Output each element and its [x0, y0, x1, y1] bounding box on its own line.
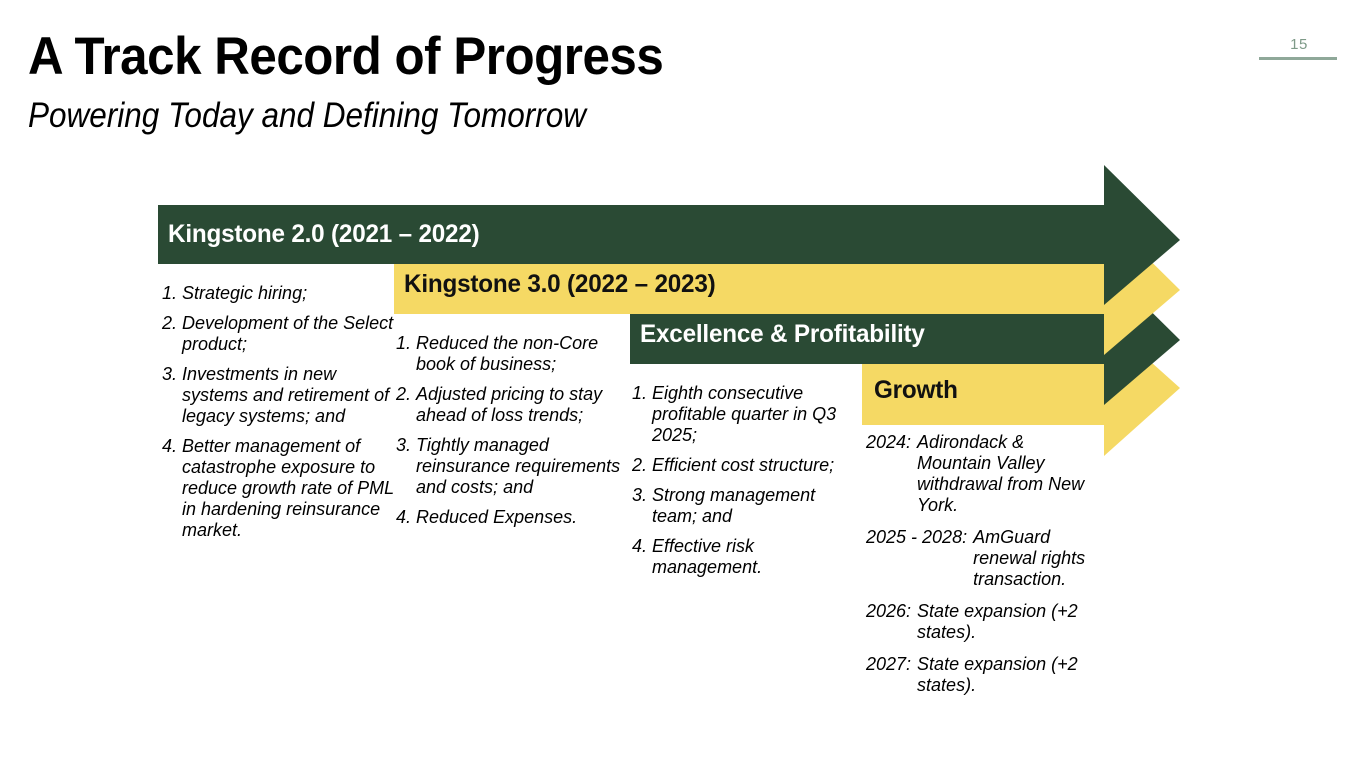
arrow-band-title: Kingstone 2.0 (2021 – 2022): [168, 205, 480, 264]
list-item-marker: 2025 - 2028:: [866, 527, 973, 590]
list-item-text: Adjusted pricing to stay ahead of loss t…: [416, 384, 628, 426]
list-item-text: Investments in new systems and retiremen…: [182, 364, 394, 427]
list-item: 4.Better management of catastrophe expos…: [162, 436, 394, 541]
list-item: 2026:State expansion (+2 states).: [866, 601, 1094, 643]
list-growth: 2024:Adirondack & Mountain Valley withdr…: [866, 432, 1094, 708]
list-item-text: State expansion (+2 states).: [917, 654, 1094, 696]
list-item: 3.Strong management team; and: [632, 485, 864, 527]
list-item-text: Efficient cost structure;: [652, 455, 864, 476]
list-item: 2027:State expansion (+2 states).: [866, 654, 1094, 696]
slide-canvas: A Track Record of Progress Powering Toda…: [0, 0, 1365, 768]
page-subtitle: Powering Today and Defining Tomorrow: [28, 96, 586, 136]
list-kingstone-2-0: 1.Strategic hiring;2.Development of the …: [162, 283, 394, 551]
list-item-marker: 2.: [162, 313, 182, 355]
list-item-text: Strong management team; and: [652, 485, 864, 527]
list-item: 2025 - 2028:AmGuard renewal rights trans…: [866, 527, 1094, 590]
list-item-marker: 2.: [396, 384, 416, 426]
list-item-marker: 4.: [632, 536, 652, 578]
list-item: 3.Investments in new systems and retirem…: [162, 364, 394, 427]
list-item-text: Reduced Expenses.: [416, 507, 628, 528]
page-number-rule: [1259, 57, 1337, 60]
list-item-text: State expansion (+2 states).: [917, 601, 1094, 643]
page-number-group: 15: [1259, 36, 1339, 60]
list-item-marker: 3.: [632, 485, 652, 527]
list-item-marker: 3.: [162, 364, 182, 427]
list-item-text: Development of the Select product;: [182, 313, 394, 355]
list-item: 3.Tightly managed reinsurance requiremen…: [396, 435, 628, 498]
list-item: 2.Efficient cost structure;: [632, 455, 864, 476]
page-number: 15: [1259, 36, 1339, 53]
list-item-marker: 4.: [162, 436, 182, 541]
list-item-text: Effective risk management.: [652, 536, 864, 578]
list-item-marker: 2.: [632, 455, 652, 476]
list-item-marker: 3.: [396, 435, 416, 498]
arrow-band-kingstone-2-0: Kingstone 2.0 (2021 – 2022): [158, 165, 1182, 305]
page-title: A Track Record of Progress: [28, 26, 663, 87]
list-kingstone-3-0: 1.Reduced the non-Core book of business;…: [396, 333, 628, 537]
list-item-marker: 2026:: [866, 601, 917, 643]
list-item-text: Tightly managed reinsurance requirements…: [416, 435, 628, 498]
list-item-text: AmGuard renewal rights transaction.: [973, 527, 1094, 590]
list-item: 2.Development of the Select product;: [162, 313, 394, 355]
list-excellence-profitability: 1.Eighth consecutive profitable quarter …: [632, 383, 864, 587]
list-item: 4.Effective risk management.: [632, 536, 864, 578]
list-item: 4.Reduced Expenses.: [396, 507, 628, 528]
list-item-text: Better management of catastrophe exposur…: [182, 436, 394, 541]
list-item-marker: 4.: [396, 507, 416, 528]
list-item-marker: 2027:: [866, 654, 917, 696]
list-item: 2.Adjusted pricing to stay ahead of loss…: [396, 384, 628, 426]
